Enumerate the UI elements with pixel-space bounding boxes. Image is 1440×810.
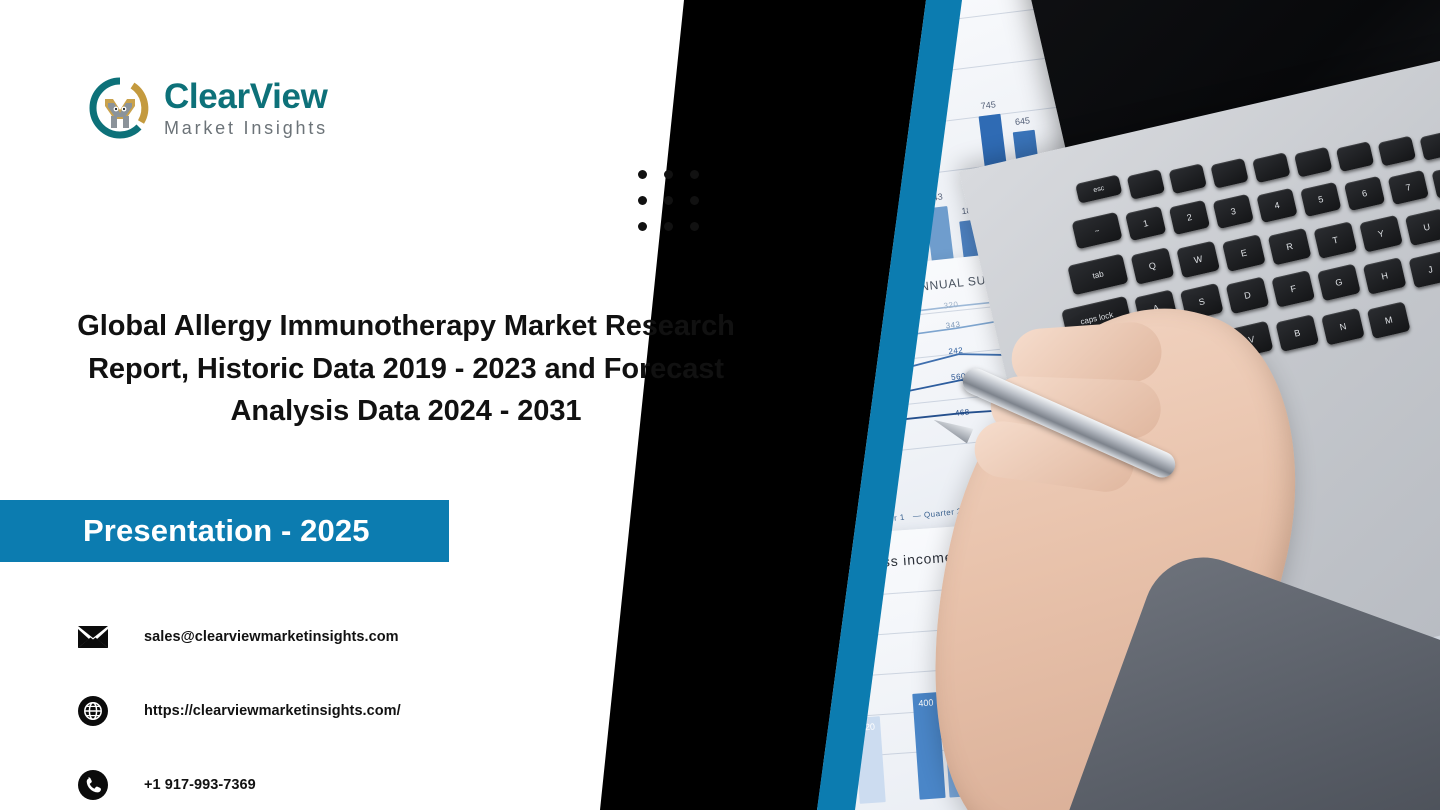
contact-row-email[interactable]: sales@clearviewmarketinsights.com [76,600,636,674]
clearview-owl-ring-logo-icon [88,76,152,140]
email-value: sales@clearviewmarketinsights.com [144,629,399,645]
phone-icon [76,768,110,802]
contact-row-website[interactable]: https://clearviewmarketinsights.com/ [76,674,636,748]
grid-dot [664,222,673,231]
phone-value: +1 917-993-7369 [144,777,256,793]
contact-list: sales@clearviewmarketinsights.com https:… [76,600,636,810]
dot-grid-decoration [638,170,699,231]
grid-dot [638,222,647,231]
grid-dot [638,196,647,205]
presentation-year-label: Presentation - 2025 [83,513,370,549]
presentation-cover-slide: 432 243 180 745 645 APARTMENT 674 946 84… [0,0,1440,810]
presentation-year-banner: Presentation - 2025 [0,500,449,562]
grid-dot [664,196,673,205]
grid-dot [664,170,673,179]
logo-title: ClearView [164,79,328,114]
globe-icon [76,694,110,728]
logo-subtitle: Market Insights [164,119,328,137]
grid-dot [638,170,647,179]
grid-dot [690,170,699,179]
page-title: Global Allergy Immunotherapy Market Rese… [50,305,762,432]
contact-row-phone[interactable]: +1 917-993-7369 [76,748,636,810]
website-value: https://clearviewmarketinsights.com/ [144,703,401,719]
grid-dot [690,196,699,205]
brand-logo[interactable]: ClearView Market Insights [88,76,328,140]
envelope-icon [76,620,110,654]
grid-dot [690,222,699,231]
